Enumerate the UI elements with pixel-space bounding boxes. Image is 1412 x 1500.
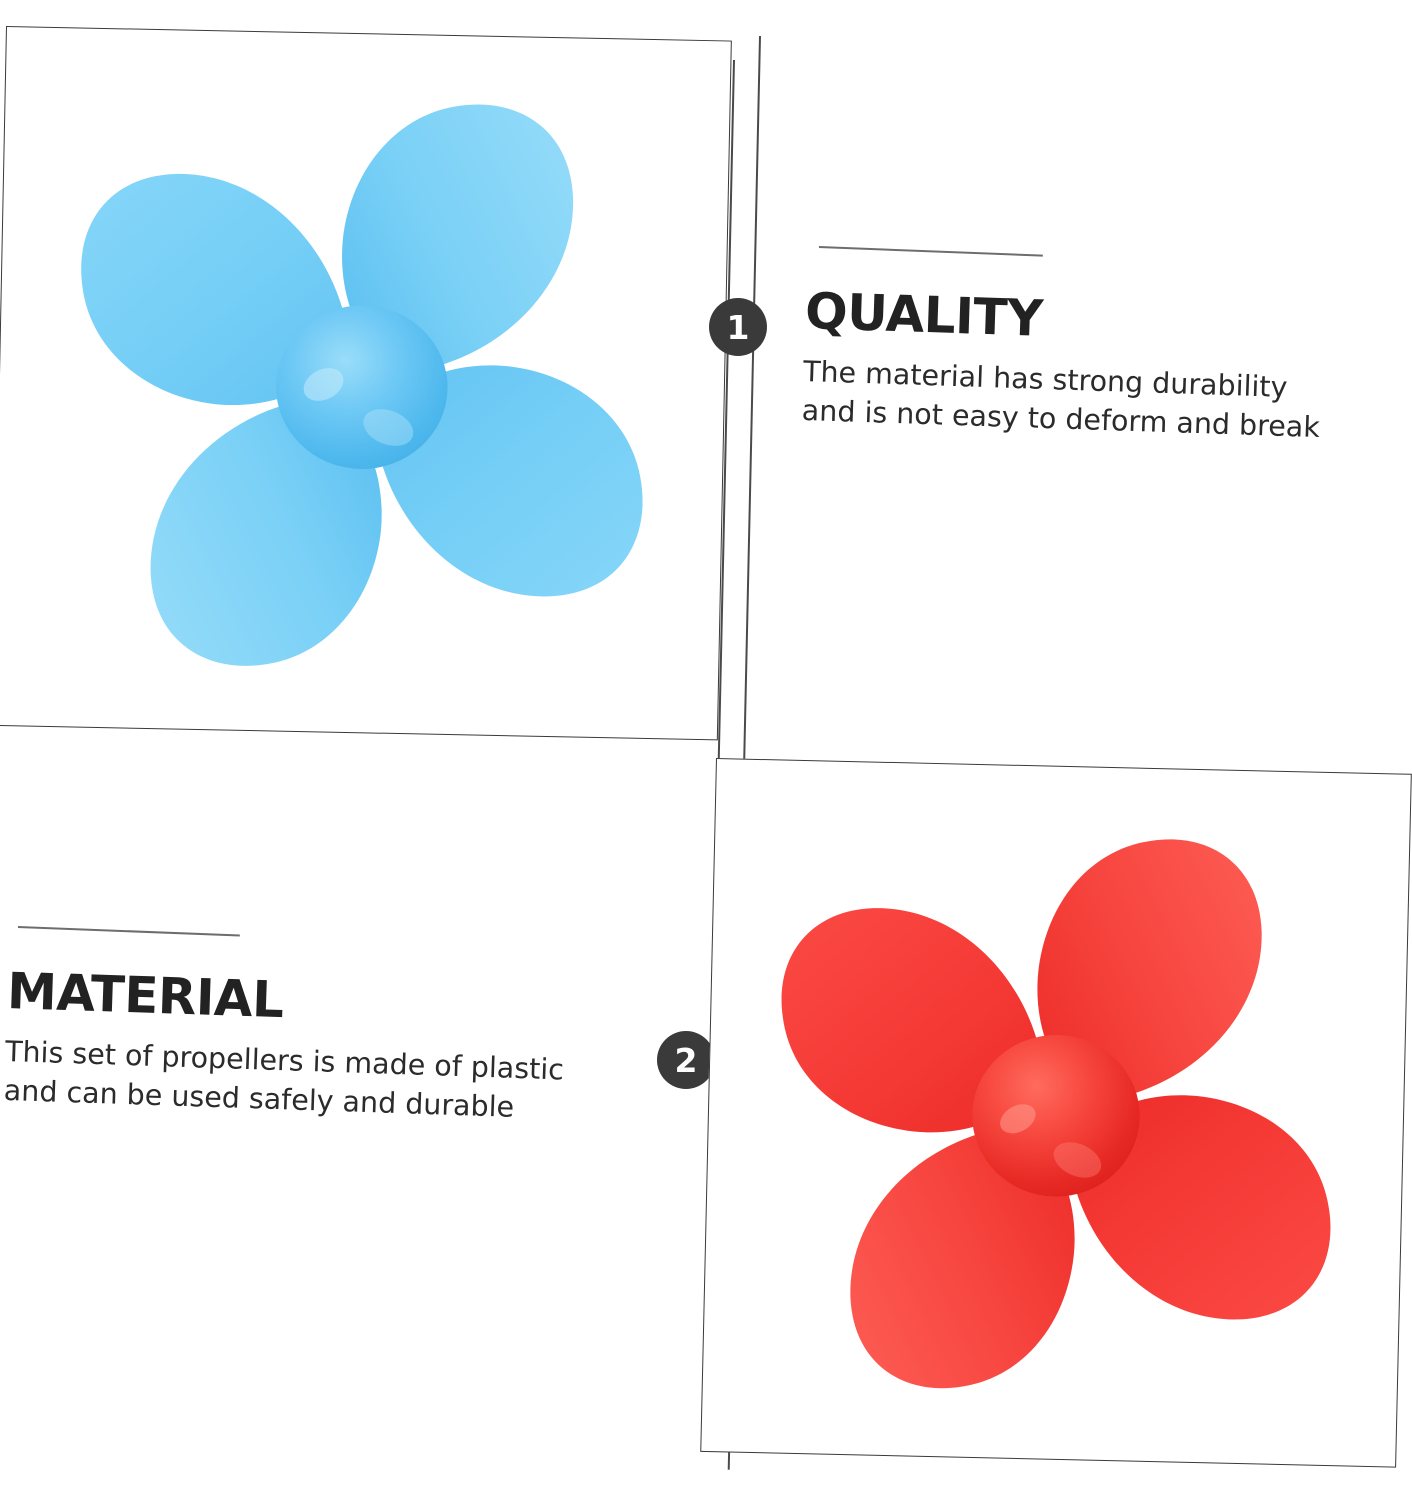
red-propeller-illustration	[701, 759, 1411, 1467]
blue-propeller-frame	[0, 26, 732, 740]
blue-propeller-photo	[0, 27, 731, 739]
step-badge-2-number: 2	[675, 1044, 698, 1077]
step-badge-1-number: 1	[727, 311, 750, 344]
accent-rule-quality	[819, 246, 1043, 256]
material-body: This set of propellers is made of plasti…	[3, 1032, 615, 1131]
blue-propeller-illustration	[0, 27, 731, 739]
red-propeller-frame	[700, 758, 1412, 1468]
quality-heading: QUALITY	[804, 286, 1385, 355]
infographic-canvas: 1 QUALITY The material has strong durabi…	[0, 0, 1412, 1500]
step-badge-1: 1	[709, 298, 767, 356]
feature-block-quality: QUALITY The material has strong durabili…	[801, 286, 1385, 450]
material-heading: MATERIAL	[6, 966, 617, 1036]
accent-rule-material	[18, 926, 240, 936]
quality-body: The material has strong durability and i…	[801, 352, 1383, 450]
feature-block-material: MATERIAL This set of propellers is made …	[3, 966, 617, 1131]
step-badge-2: 2	[657, 1031, 715, 1089]
red-propeller-photo	[701, 759, 1411, 1467]
